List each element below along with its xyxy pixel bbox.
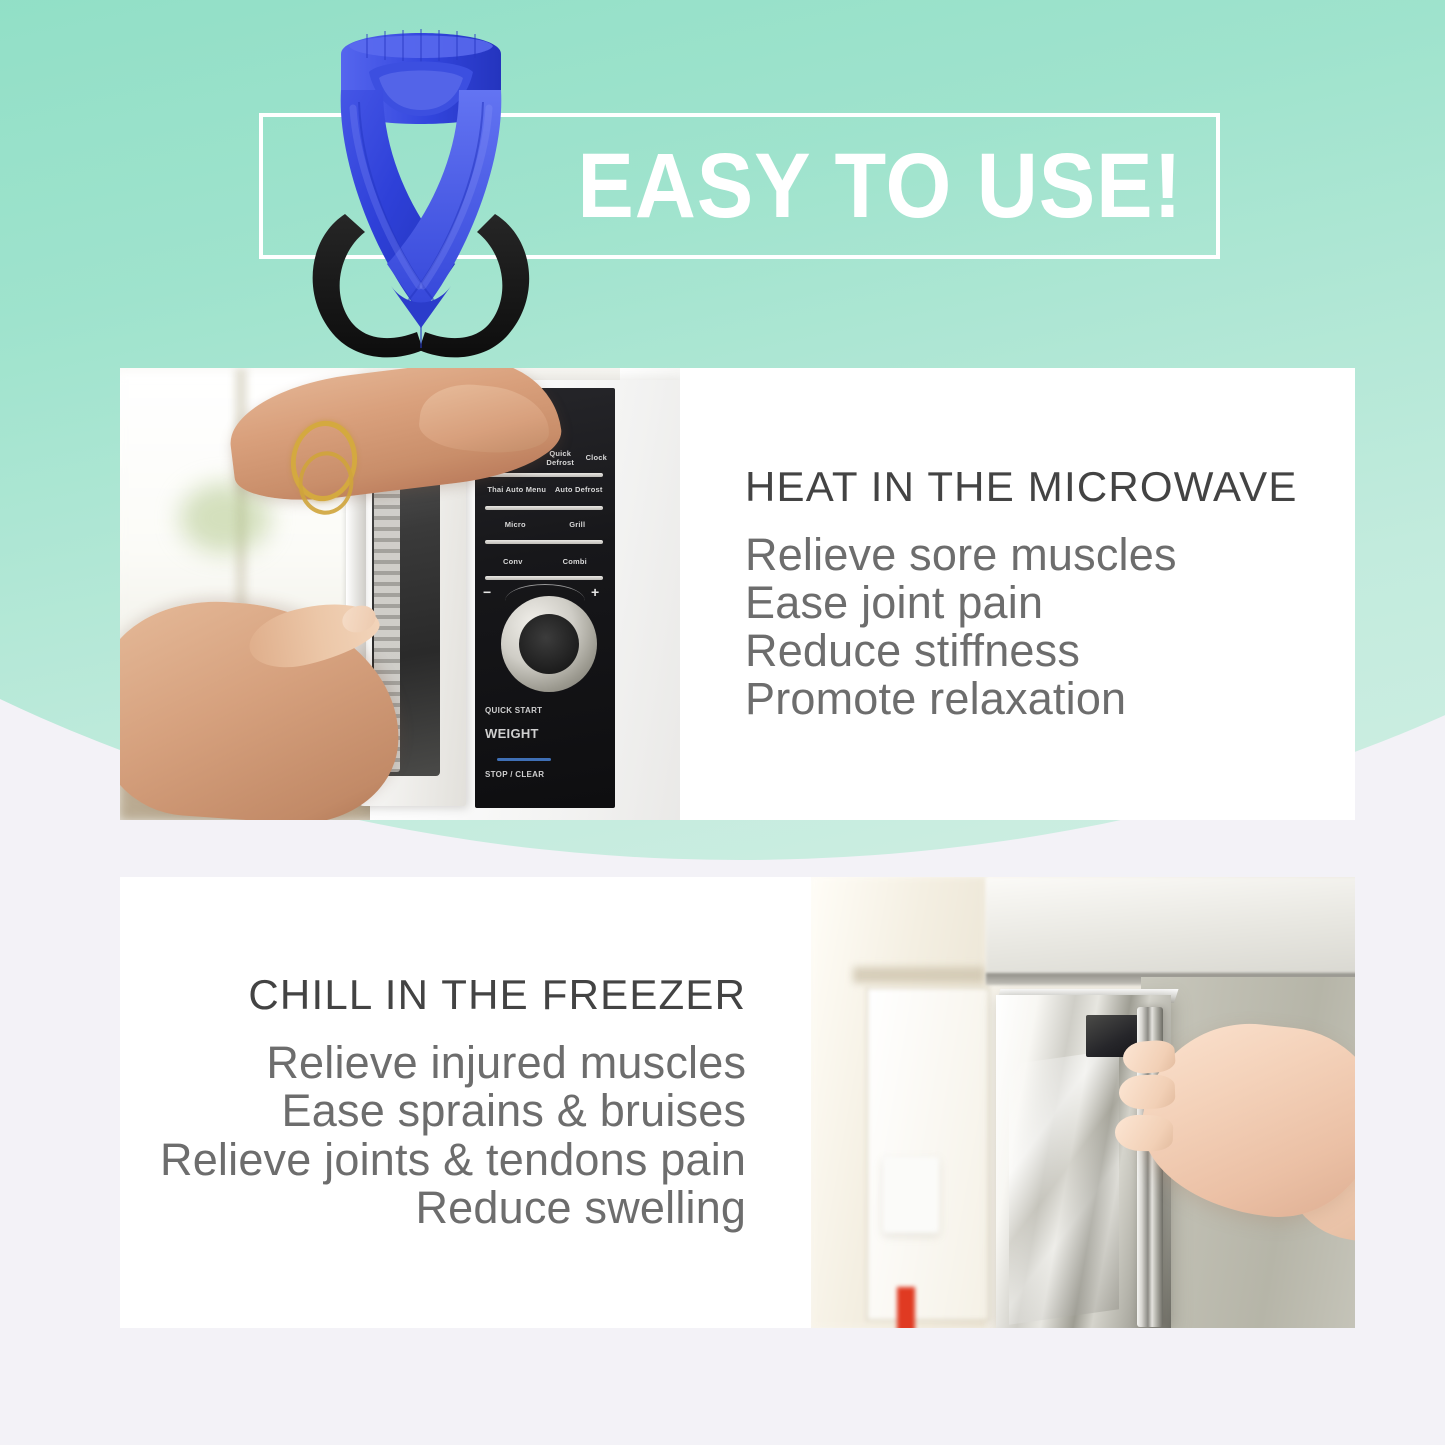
microwave-button-auto-defrost[interactable]: Auto Defrost: [555, 486, 603, 495]
microwave-dial-minus[interactable]: −: [483, 584, 491, 600]
microwave-label-weight: WEIGHT: [485, 726, 605, 741]
microwave-accent-line: [497, 758, 551, 761]
photo-hand-pressing-microwave: 0 Crispy Reheat Quick Defrost Clock Thai…: [120, 368, 680, 820]
card-chill-title: CHILL IN THE FREEZER: [248, 973, 746, 1017]
microwave-button-grill[interactable]: Grill: [569, 521, 585, 530]
microwave-label-quick-start: QUICK START: [485, 706, 605, 715]
microwave-dial-plus[interactable]: +: [591, 584, 599, 600]
list-item: Reduce swelling: [160, 1184, 746, 1232]
microwave-dial-center[interactable]: [519, 614, 579, 674]
page-title: EASY TO USE!: [586, 131, 1175, 241]
list-item: Ease sprains & bruises: [160, 1087, 746, 1135]
microwave-button-conv[interactable]: Conv: [503, 558, 523, 567]
list-item: Relieve joints & tendons pain: [160, 1136, 746, 1184]
card-heat-copy: HEAT IN THE MICROWAVE Relieve sore muscl…: [680, 368, 1355, 820]
finger: [1122, 1039, 1176, 1075]
card-chill-copy: CHILL IN THE FREEZER Relieve injured mus…: [120, 877, 811, 1328]
card-chill-benefit-list: Relieve injured muscles Ease sprains & b…: [160, 1039, 746, 1232]
list-item: Ease joint pain: [745, 579, 1177, 627]
microwave-button-clock[interactable]: Clock: [586, 454, 607, 463]
card-heat-microwave: 0 Crispy Reheat Quick Defrost Clock Thai…: [120, 368, 1355, 820]
card-heat-title: HEAT IN THE MICROWAVE: [745, 465, 1298, 509]
card-heat-benefit-list: Relieve sore muscles Ease joint pain Red…: [745, 531, 1177, 724]
microwave-button-micro[interactable]: Micro: [505, 521, 526, 530]
microwave-button-combi[interactable]: Combi: [563, 558, 587, 567]
list-item: Promote relaxation: [745, 675, 1177, 723]
list-item: Reduce stiffness: [745, 627, 1177, 675]
microwave-label-stop-clear: STOP / CLEAR: [485, 770, 605, 779]
product-image-neck-wrap: [287, 18, 555, 363]
list-item: Relieve injured muscles: [160, 1039, 746, 1087]
finger: [1119, 1074, 1176, 1110]
microwave-button-thai-auto-menu[interactable]: Thai Auto Menu: [487, 486, 546, 495]
finger: [1115, 1114, 1174, 1152]
photo-hand-opening-freezer: [811, 877, 1355, 1328]
infographic-poster: EASY TO USE!: [0, 0, 1445, 1445]
card-chill-freezer: CHILL IN THE FREEZER Relieve injured mus…: [120, 877, 1355, 1328]
list-item: Relieve sore muscles: [745, 531, 1177, 579]
